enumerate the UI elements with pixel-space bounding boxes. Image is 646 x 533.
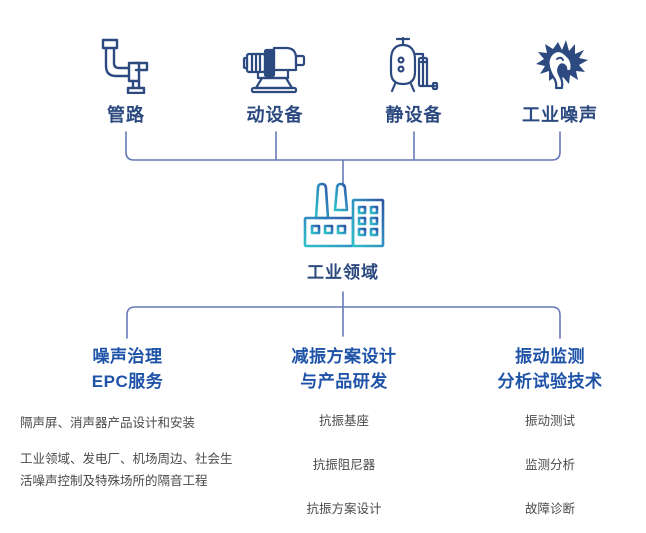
column-items: 振动测试 监测分析 故障诊断 (470, 410, 630, 520)
list-item: 工业领域、发电厂、机场周边、社会生活噪声控制及特殊场所的隔音工程 (20, 448, 235, 492)
column-items: 抗振基座 抗振阻尼器 抗振方案设计 (258, 410, 430, 520)
column-title: 振动监测 分析试验技术 (470, 344, 630, 394)
list-item: 抗振基座 (258, 410, 430, 432)
top-node-static-equipment[interactable]: 静设备 (349, 34, 479, 127)
top-node-label: 管路 (61, 103, 191, 127)
center-node-label: 工业领域 (278, 258, 408, 283)
top-node-rotating-equipment[interactable]: 动设备 (210, 34, 340, 127)
column-title-line-2: 分析试验技术 (470, 369, 630, 394)
top-node-pipe[interactable]: 管路 (61, 34, 191, 127)
top-node-industrial-noise[interactable]: 工业噪声 (495, 34, 625, 127)
column-title: 减振方案设计 与产品研发 (258, 344, 430, 394)
diagram-canvas: 管路 动设备 (0, 0, 646, 533)
column-title-line-1: 噪声治理 (20, 344, 235, 369)
center-node-industrial-domain[interactable]: 工业领域 (278, 180, 408, 283)
pump-motor-icon (210, 34, 340, 94)
list-item: 抗振方案设计 (258, 498, 430, 520)
list-item: 抗振阻尼器 (258, 454, 430, 476)
list-item: 监测分析 (470, 454, 630, 476)
pressure-vessel-icon (349, 34, 479, 94)
column-vibration-monitoring-analysis[interactable]: 振动监测 分析试验技术 振动测试 监测分析 故障诊断 (470, 344, 630, 533)
column-items: 隔声屏、消声器产品设计和安装 工业领域、发电厂、机场周边、社会生活噪声控制及特殊… (20, 412, 235, 492)
pipe-icon (61, 34, 191, 94)
list-item: 故障诊断 (470, 498, 630, 520)
column-title-line-2: 与产品研发 (258, 369, 430, 394)
column-title-line-2: EPC服务 (20, 369, 235, 394)
factory-icon (278, 180, 408, 252)
column-title-line-1: 减振方案设计 (258, 344, 430, 369)
ear-noise-icon (495, 34, 625, 94)
column-noise-control-epc[interactable]: 噪声治理 EPC服务 隔声屏、消声器产品设计和安装 工业领域、发电厂、机场周边、… (20, 344, 235, 506)
top-node-label: 静设备 (349, 103, 479, 127)
column-title: 噪声治理 EPC服务 (20, 344, 235, 394)
column-title-line-1: 振动监测 (470, 344, 630, 369)
list-item: 隔声屏、消声器产品设计和安装 (20, 412, 235, 434)
column-vibration-reduction-design[interactable]: 减振方案设计 与产品研发 抗振基座 抗振阻尼器 抗振方案设计 (258, 344, 430, 533)
list-item: 振动测试 (470, 410, 630, 432)
top-node-label: 动设备 (210, 103, 340, 127)
top-node-label: 工业噪声 (495, 103, 625, 127)
